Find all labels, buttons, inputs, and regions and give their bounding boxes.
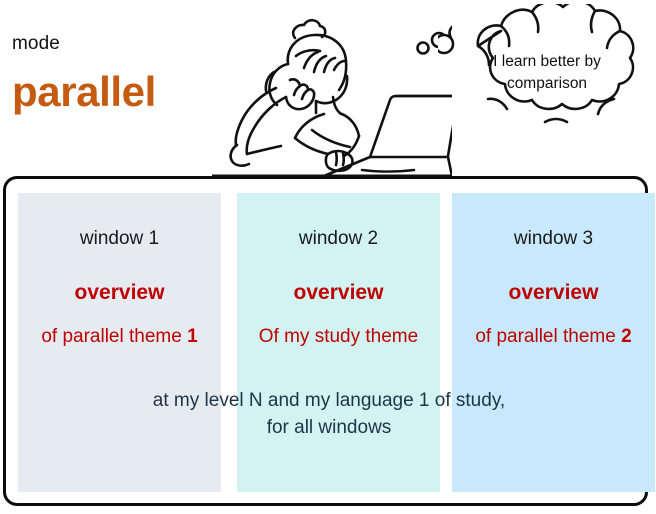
panels-row: window 1 overview of parallel theme 1 wi… bbox=[18, 193, 640, 492]
window-panel-2[interactable]: window 2 overview Of my study theme bbox=[237, 193, 440, 492]
window-panel-1[interactable]: window 1 overview of parallel theme 1 bbox=[18, 193, 221, 492]
thought-bubble-text: I learn better by comparison bbox=[477, 51, 617, 95]
window-1-overview-sub: of parallel theme 1 bbox=[18, 324, 221, 350]
window-3-overview-sub-text: of parallel theme bbox=[475, 326, 615, 347]
window-2-overview-label: overview bbox=[237, 281, 440, 305]
window-3-title: window 3 bbox=[452, 228, 655, 250]
window-1-overview-sub-text: of parallel theme bbox=[41, 326, 181, 347]
window-1-title: window 1 bbox=[18, 228, 221, 250]
window-1-overview-label: overview bbox=[18, 281, 221, 305]
thought-bubble: I learn better by comparison bbox=[438, 4, 656, 146]
window-2-title: window 2 bbox=[237, 228, 440, 250]
window-2-overview-sub-text: Of my study theme bbox=[259, 326, 418, 347]
thought-bubble-text-wrap: I learn better by comparison bbox=[438, 4, 656, 146]
window-panel-3[interactable]: window 3 overview of parallel theme 2 bbox=[452, 193, 655, 492]
student-at-laptop-icon bbox=[212, 2, 452, 178]
window-3-overview-number: 2 bbox=[621, 326, 632, 347]
window-2-overview-sub: Of my study theme bbox=[237, 324, 440, 350]
header: mode parallel bbox=[0, 0, 656, 176]
mode-label: mode bbox=[12, 33, 60, 55]
mode-value: parallel bbox=[12, 68, 156, 116]
windows-container: window 1 overview of parallel theme 1 wi… bbox=[3, 176, 648, 506]
window-3-overview-label: overview bbox=[452, 281, 655, 305]
window-3-overview-sub: of parallel theme 2 bbox=[452, 324, 655, 350]
window-1-overview-number: 1 bbox=[187, 326, 198, 347]
